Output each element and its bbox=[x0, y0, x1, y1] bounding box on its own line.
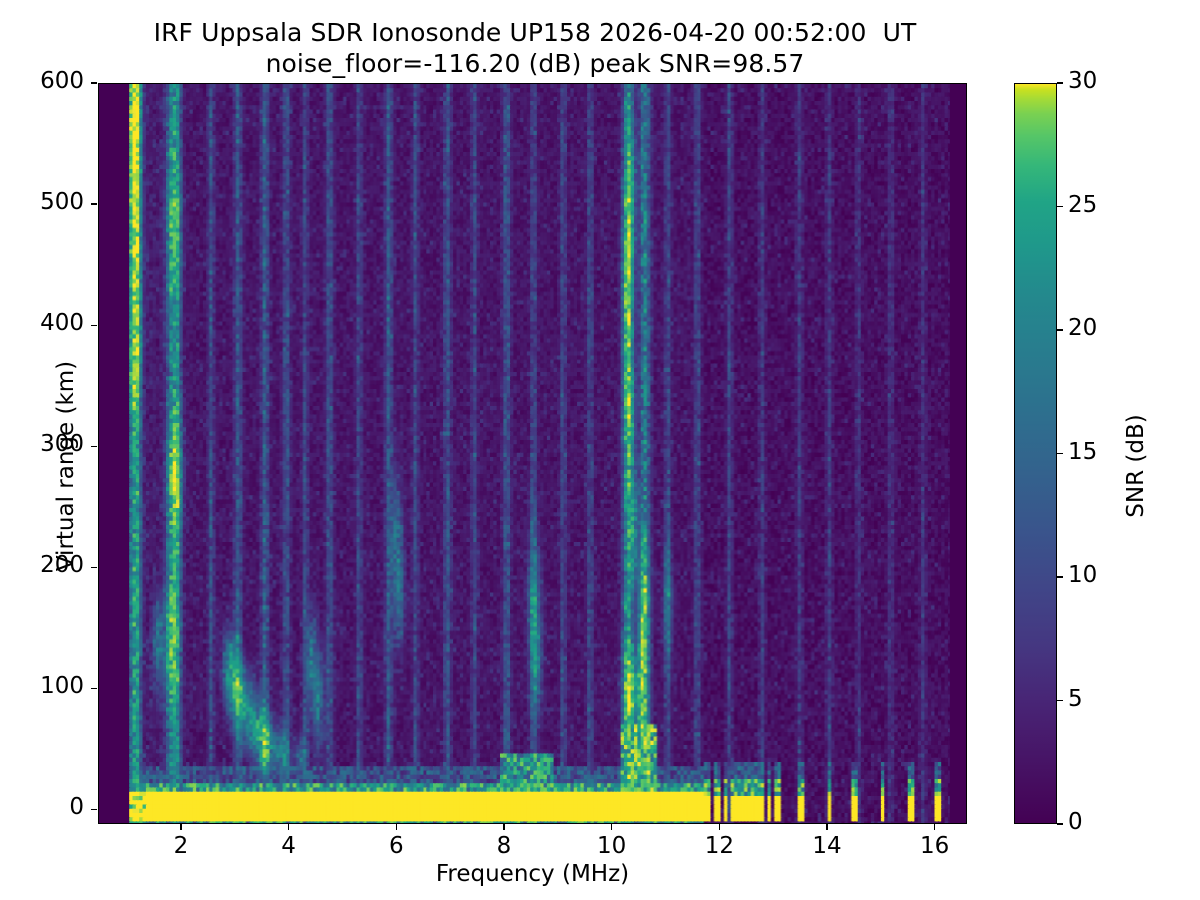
x-tick-label: 2 bbox=[141, 833, 221, 859]
colorbar-tick-mark bbox=[1057, 82, 1063, 83]
colorbar-tick-label: 10 bbox=[1068, 562, 1097, 588]
y-tick-mark bbox=[91, 325, 97, 326]
x-tick-label: 12 bbox=[679, 833, 759, 859]
x-tick-mark bbox=[719, 824, 720, 830]
colorbar-tick-mark bbox=[1057, 823, 1063, 824]
ionogram-heatmap-canvas bbox=[99, 84, 966, 823]
y-tick-mark bbox=[91, 688, 97, 689]
y-tick-label: 400 bbox=[0, 310, 84, 336]
y-tick-mark bbox=[91, 446, 97, 447]
colorbar-tick-label: 25 bbox=[1068, 192, 1097, 218]
y-tick-mark bbox=[91, 809, 97, 810]
colorbar-gradient bbox=[1014, 83, 1057, 824]
title-line-2: noise_floor=-116.20 (dB) peak SNR=98.57 bbox=[0, 49, 1070, 80]
ionogram-plot-area bbox=[98, 83, 967, 824]
y-tick-label: 600 bbox=[0, 68, 84, 94]
x-tick-mark bbox=[934, 824, 935, 830]
x-tick-mark bbox=[503, 824, 504, 830]
ionogram-figure: IRF Uppsala SDR Ionosonde UP158 2026-04-… bbox=[0, 0, 1200, 900]
colorbar-tick-label: 0 bbox=[1068, 809, 1083, 835]
colorbar-tick-label: 20 bbox=[1068, 315, 1097, 341]
x-tick-label: 16 bbox=[895, 833, 975, 859]
y-tick-mark bbox=[91, 203, 97, 204]
colorbar-tick-mark bbox=[1057, 453, 1063, 454]
y-tick-label: 0 bbox=[0, 794, 84, 820]
x-tick-label: 10 bbox=[572, 833, 652, 859]
colorbar-tick-mark bbox=[1057, 700, 1063, 701]
x-axis-label: Frequency (MHz) bbox=[98, 861, 967, 887]
x-tick-label: 14 bbox=[787, 833, 867, 859]
x-tick-label: 6 bbox=[356, 833, 436, 859]
x-tick-mark bbox=[288, 824, 289, 830]
y-tick-label: 500 bbox=[0, 189, 84, 215]
colorbar-tick-label: 15 bbox=[1068, 439, 1097, 465]
x-tick-label: 8 bbox=[464, 833, 544, 859]
x-tick-mark bbox=[826, 824, 827, 830]
colorbar-label: SNR (dB) bbox=[1123, 336, 1149, 596]
y-axis-label: Virtual range (km) bbox=[53, 336, 79, 596]
colorbar-tick-label: 5 bbox=[1068, 686, 1083, 712]
x-tick-mark bbox=[396, 824, 397, 830]
colorbar-tick-mark bbox=[1057, 329, 1063, 330]
title-line-1: IRF Uppsala SDR Ionosonde UP158 2026-04-… bbox=[0, 18, 1070, 49]
y-tick-mark bbox=[91, 567, 97, 568]
y-tick-label: 100 bbox=[0, 673, 84, 699]
colorbar-tick-mark bbox=[1057, 576, 1063, 577]
x-tick-label: 4 bbox=[249, 833, 329, 859]
colorbar-tick-label: 30 bbox=[1068, 68, 1097, 94]
page-title: IRF Uppsala SDR Ionosonde UP158 2026-04-… bbox=[0, 18, 1070, 79]
y-tick-mark bbox=[91, 82, 97, 83]
x-tick-mark bbox=[611, 824, 612, 830]
x-tick-mark bbox=[180, 824, 181, 830]
colorbar-tick-mark bbox=[1057, 206, 1063, 207]
